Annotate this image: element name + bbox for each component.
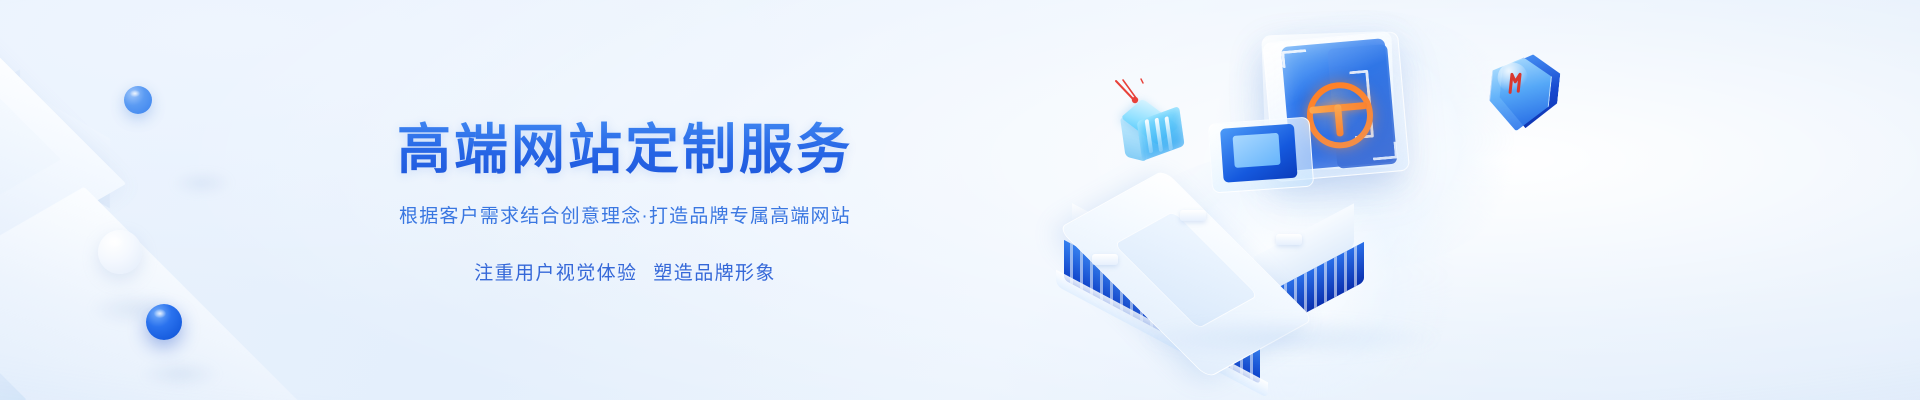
server-tab (1276, 234, 1302, 245)
hero-banner: 高端网站定制服务 根据客户需求结合创意理念·打造品牌专属高端网站 注重用户视觉体… (0, 0, 1920, 400)
hero-illustration (1080, 0, 1680, 400)
server-tab (1092, 254, 1118, 265)
server-tab (1180, 210, 1206, 221)
subtitle-segment-two: 塑造品牌形象 (653, 263, 775, 284)
ground-reflection (1140, 318, 1440, 358)
page-title: 高端网站定制服务 (397, 121, 853, 180)
hero-subtitle-primary: 根据客户需求结合创意理念·打造品牌专属高端网站 (399, 201, 851, 228)
lightning-bolt-icon (1506, 70, 1528, 96)
hero-subtitle-secondary: 注重用户视觉体验塑造品牌形象 (474, 258, 776, 285)
subtitle-segment-one: 注重用户视觉体验 (474, 263, 637, 284)
mini-screen-inner (1233, 133, 1281, 168)
cursor-arrow-icon (1114, 78, 1150, 112)
shield-icon (1486, 48, 1566, 139)
